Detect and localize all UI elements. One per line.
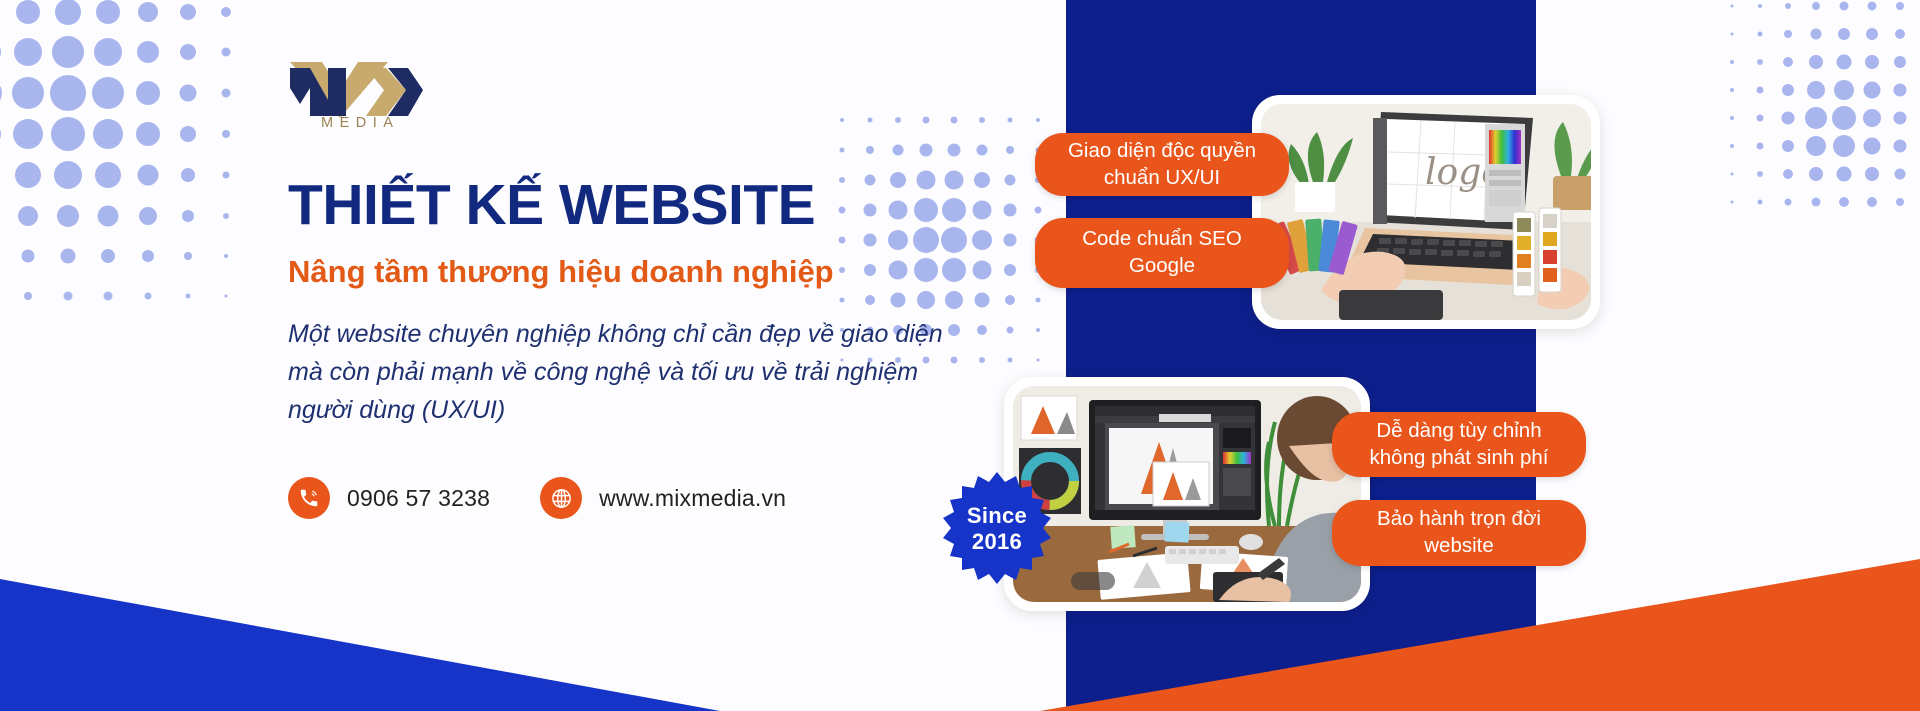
photo-designer-inner [1013,386,1361,602]
feature-pill-customize-text: Dễ dàng tùy chỉnh không phát sinh phí [1370,418,1549,471]
feature-pill-seo[interactable]: Code chuẩn SEO Google [1035,218,1289,288]
contact-phone[interactable]: 0906 57 3238 [288,477,490,519]
feature-pill-warranty[interactable]: Bảo hành trọn đời website [1332,500,1586,566]
since-year: 2016 [972,529,1022,555]
feature-pill-seo-text: Code chuẩn SEO Google [1082,226,1242,279]
photo-laptop-inner: logo [1261,104,1591,320]
feature-line-1: Giao diện độc quyền [1068,139,1256,162]
feature-line-2: website [1424,534,1494,557]
feature-line-2: chuẩn UX/UI [1104,166,1220,189]
phone-icon [288,477,330,519]
feature-line-1: Bảo hành trọn đời [1377,507,1541,530]
hero-description: Một website chuyên nghiệp không chỉ cần … [288,315,948,429]
website-url: www.mixmedia.vn [599,485,786,512]
halftone-dots-left [0,0,240,320]
photo-designer-desktop [1004,377,1370,611]
feature-line-1: Dễ dàng tùy chỉnh [1376,419,1541,442]
page-subtitle: Nâng tầm thương hiệu doanh nghiệp [288,254,988,290]
feature-line-2: Google [1129,254,1195,277]
feature-pill-warranty-text: Bảo hành trọn đời website [1377,506,1541,559]
mix-logo-icon [288,60,423,118]
page-title: THIẾT KẾ WEBSITE [288,176,988,236]
contact-website[interactable]: www.mixmedia.vn [540,477,786,519]
phone-number: 0906 57 3238 [347,485,490,512]
photo-laptop-logo-design: logo [1252,95,1600,329]
globe-icon [540,477,582,519]
logo-wordmark: MEDIA [321,115,399,131]
halftone-dots-right [1722,0,1920,222]
hero-content: MEDIA THIẾT KẾ WEBSITE Nâng tầm thương h… [288,60,988,519]
feature-pill-customize[interactable]: Dễ dàng tùy chỉnh không phát sinh phí [1332,412,1586,477]
feature-line-2: không phát sinh phí [1370,446,1549,469]
brand-logo: MEDIA [288,60,423,132]
bottom-left-blue-wedge [0,551,720,711]
feature-pill-ux-ui-text: Giao diện độc quyền chuẩn UX/UI [1068,138,1256,191]
promo-banner: logo [0,0,1920,711]
contact-row: 0906 57 3238 www.mixmedia.vn [288,477,988,519]
feature-pill-ux-ui[interactable]: Giao diện độc quyền chuẩn UX/UI [1035,133,1289,196]
feature-line-1: Code chuẩn SEO [1082,227,1242,250]
